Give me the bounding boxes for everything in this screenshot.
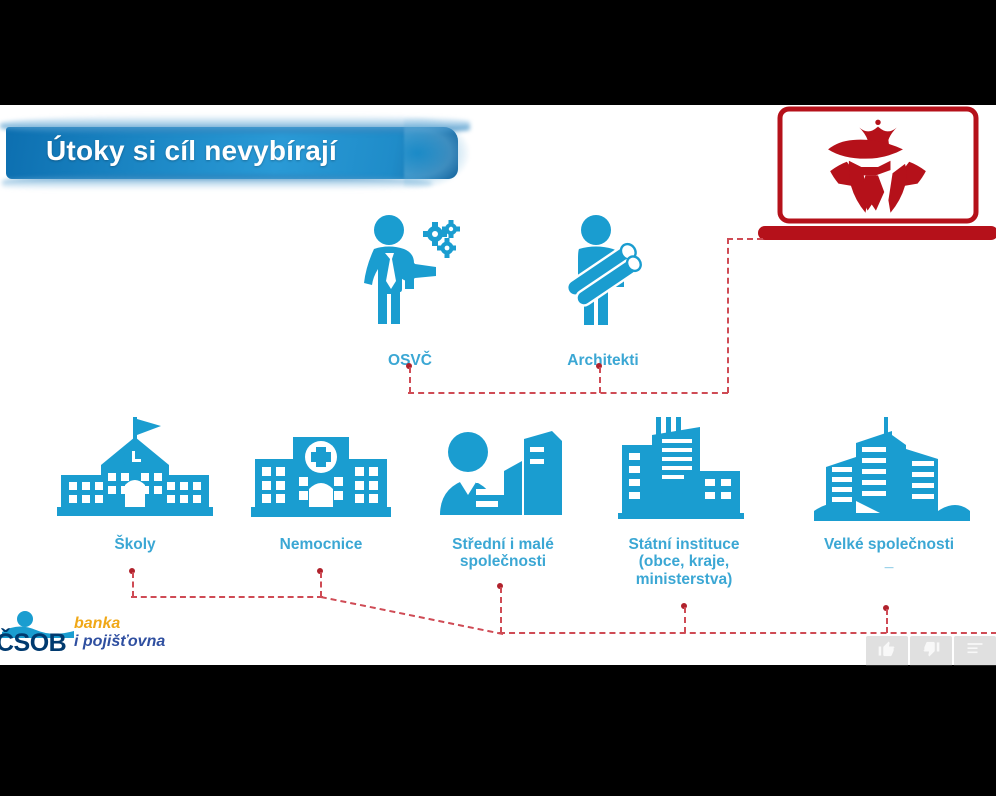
connector-vline-osvc [409, 367, 411, 393]
thumbs-down-icon [921, 639, 941, 664]
node-sme: Střední i malé společnosti [430, 427, 576, 571]
dislike-button[interactable] [910, 636, 952, 666]
title-banner: Útoky si cíl nevybírají [0, 113, 470, 191]
skyscrapers-icon [800, 415, 978, 532]
hacker-laptop-icon [758, 105, 996, 245]
connector-vline-skoly [132, 572, 134, 597]
csob-wordmark: ČSOB [0, 629, 66, 658]
connector-vline-architekti [599, 367, 601, 393]
player-overlay-controls[interactable] [866, 636, 996, 666]
freelancer-person-gears-icon [355, 213, 465, 348]
node-velke-label: Velké společnosti _ [800, 536, 978, 571]
school-building-icon [55, 415, 215, 532]
node-osvc: OSVČ [355, 213, 465, 369]
connector-hline-bottom [499, 632, 996, 634]
node-nemocnice-label: Nemocnice [245, 536, 397, 553]
csob-tagline-line1: banka [74, 615, 120, 633]
connector-hline-attacker [727, 238, 763, 240]
connector-vline-sme [500, 587, 502, 633]
playlist-icon [965, 639, 985, 664]
node-skoly: Školy [55, 415, 215, 553]
government-buildings-icon [608, 415, 760, 532]
csob-logo: ČSOB banka i pojišťovna [0, 610, 210, 660]
presentation-slide: Útoky si cíl nevybírají [0, 105, 996, 665]
thumbs-up-icon [877, 639, 897, 664]
node-stat-label: Státní instituce (obce, kraje, ministers… [608, 536, 760, 588]
connector-vline-velke [886, 609, 888, 633]
architect-person-blueprints-icon [548, 213, 658, 348]
node-sme-label: Střední i malé společnosti [430, 536, 576, 571]
node-stat: Státní instituce (obce, kraje, ministers… [608, 415, 760, 588]
node-velke: Velké společnosti _ [800, 415, 978, 571]
video-player-frame: Útoky si cíl nevybírají [0, 0, 996, 796]
node-skoly-label: Školy [55, 536, 215, 553]
connector-hline-top [408, 392, 728, 394]
node-architekti-label: Architekti [548, 352, 658, 369]
node-nemocnice: Nemocnice [245, 437, 397, 553]
attacker-node [758, 105, 996, 249]
node-architekti: Architekti [548, 213, 658, 369]
page-title: Útoky si cíl nevybírají [46, 135, 446, 167]
playlist-button[interactable] [954, 636, 996, 666]
connector-vline-stat [684, 607, 686, 633]
like-button[interactable] [866, 636, 908, 666]
hospital-building-icon [245, 437, 397, 532]
person-office-buildings-icon [430, 427, 576, 532]
connector-vline-attacker [727, 238, 729, 393]
connector-hline-left [131, 596, 323, 598]
connector-vline-nemocnice [320, 572, 322, 597]
connector-diagonal [321, 596, 504, 635]
csob-tagline-line2: i pojišťovna [74, 633, 165, 651]
